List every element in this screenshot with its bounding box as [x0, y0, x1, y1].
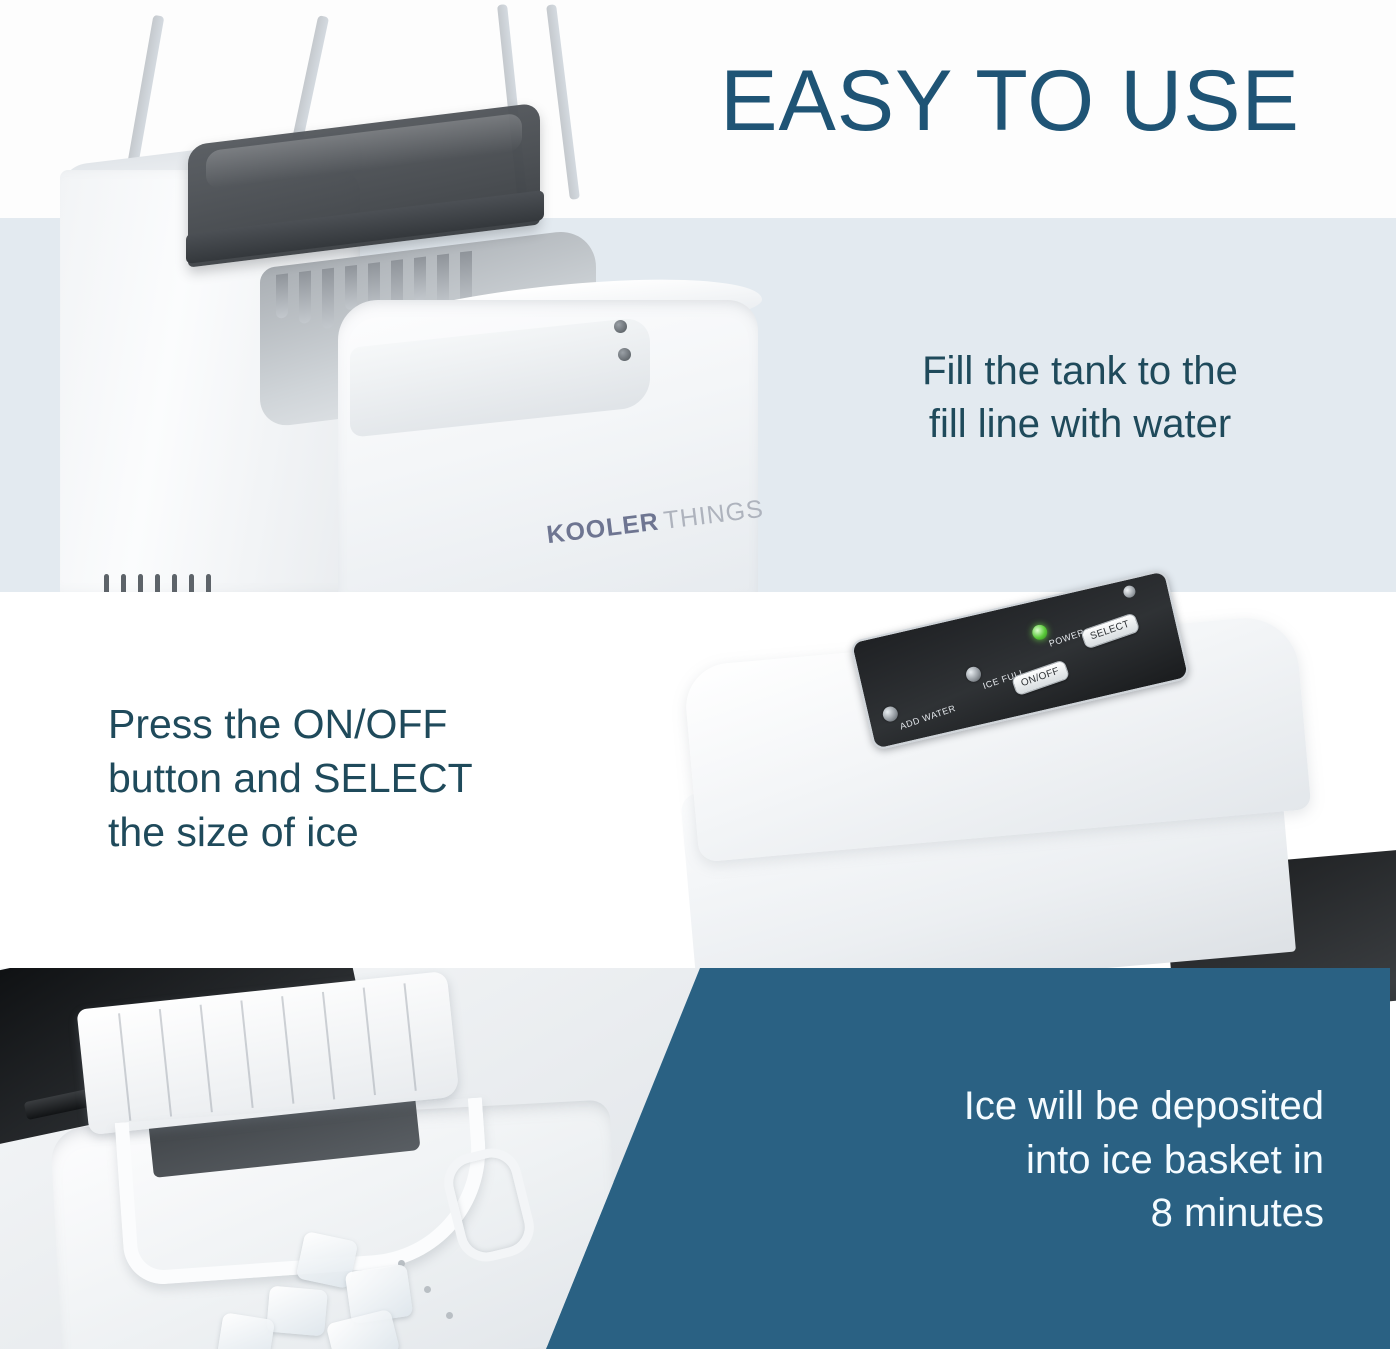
step-panel-3: Ice will be deposited into ice basket in…: [0, 968, 1396, 1357]
step-2-caption-line-3: the size of ice: [108, 805, 628, 859]
on-off-button[interactable]: ON/OFF: [1011, 659, 1070, 696]
select-button[interactable]: SELECT: [1080, 612, 1140, 649]
screw-icon: [614, 320, 627, 333]
ice-cube: [266, 1286, 328, 1337]
product-image-control-panel: ADD WATER ICE FULL POWER ON/OFF SELECT: [668, 592, 1396, 968]
product-infographic: EASY TO USE KOOLERTHINGS: [0, 0, 1396, 1357]
led-add-water: [881, 705, 899, 723]
step-2-caption-line-2: button and SELECT: [108, 751, 628, 805]
step-3-caption-line-3: 8 minutes: [768, 1187, 1324, 1241]
screw-icon: [618, 348, 631, 361]
screw-icon: [1122, 584, 1136, 598]
lid-hinge-arm: [546, 4, 580, 200]
product-image-ice-maker-open-lid: KOOLERTHINGS: [38, 0, 828, 592]
step-3-caption-line-1: Ice will be deposited: [768, 1080, 1324, 1134]
led-ice-full: [965, 665, 983, 683]
step-2-caption-line-1: Press the ON/OFF: [108, 697, 628, 751]
step-1-caption-line-1: Fill the tank to the: [800, 345, 1360, 398]
step-3-caption-line-2: into ice basket in: [768, 1134, 1324, 1188]
step-1-caption: Fill the tank to the fill line with wate…: [800, 345, 1360, 451]
label-add-water: ADD WATER: [898, 703, 956, 731]
step-1-caption-line-2: fill line with water: [800, 398, 1360, 451]
step-panel-1: EASY TO USE KOOLERTHINGS: [0, 0, 1396, 592]
led-power: [1031, 623, 1049, 641]
step-panel-2: Press the ON/OFF button and SELECT the s…: [0, 592, 1396, 968]
vent-grille: [104, 574, 232, 592]
drain-hole: [446, 1312, 453, 1319]
label-power: POWER: [1048, 627, 1086, 649]
drain-hole: [424, 1286, 431, 1293]
step-3-caption: Ice will be deposited into ice basket in…: [768, 1080, 1324, 1241]
step-2-caption: Press the ON/OFF button and SELECT the s…: [108, 697, 628, 859]
